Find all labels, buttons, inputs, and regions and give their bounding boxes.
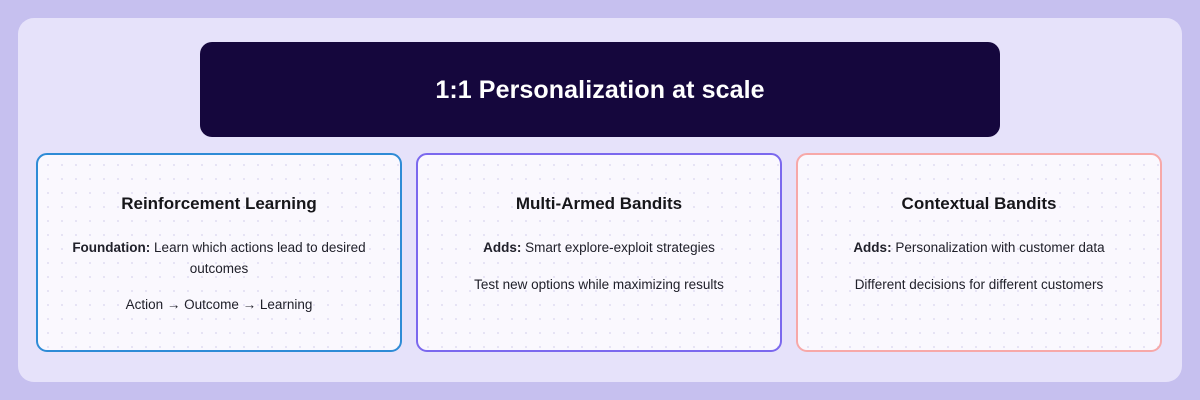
card-line-secondary: Different decisions for different custom… — [855, 275, 1104, 295]
card-title: Contextual Bandits — [902, 193, 1057, 214]
card-line-lead: Adds: — [483, 240, 521, 255]
card-line-primary: Foundation: Learn which actions lead to … — [64, 238, 374, 279]
card-line-text: Smart explore-exploit strategies — [521, 240, 715, 255]
banner-title: 1:1 Personalization at scale — [435, 75, 764, 105]
card-title: Multi-Armed Bandits — [516, 193, 682, 214]
concept-card-row: Reinforcement Learning Foundation: Learn… — [36, 153, 1164, 352]
card-line-text: Action → Outcome → Learning — [126, 297, 313, 312]
card-line-text: Test new options while maximizing result… — [474, 277, 724, 292]
card-line-text: Different decisions for different custom… — [855, 277, 1104, 292]
card-line-primary: Adds: Smart explore-exploit strategies — [483, 238, 715, 258]
card-line-text: Personalization with customer data — [892, 240, 1105, 255]
concept-card-reinforcement-learning: Reinforcement Learning Foundation: Learn… — [36, 153, 402, 352]
concept-card-contextual-bandits: Contextual Bandits Adds: Personalization… — [796, 153, 1162, 352]
card-line-secondary: Action → Outcome → Learning — [126, 295, 313, 315]
card-line-lead: Adds: — [853, 240, 891, 255]
concept-card-multi-armed-bandits: Multi-Armed Bandits Adds: Smart explore-… — [416, 153, 782, 352]
card-title: Reinforcement Learning — [121, 193, 317, 214]
card-line-secondary: Test new options while maximizing result… — [474, 275, 724, 295]
card-line-primary: Adds: Personalization with customer data — [853, 238, 1104, 258]
card-line-text: Learn which actions lead to desired outc… — [150, 240, 365, 275]
content-panel: 1:1 Personalization at scale Reinforceme… — [18, 18, 1182, 382]
title-banner: 1:1 Personalization at scale — [200, 42, 1000, 137]
card-line-lead: Foundation: — [72, 240, 150, 255]
